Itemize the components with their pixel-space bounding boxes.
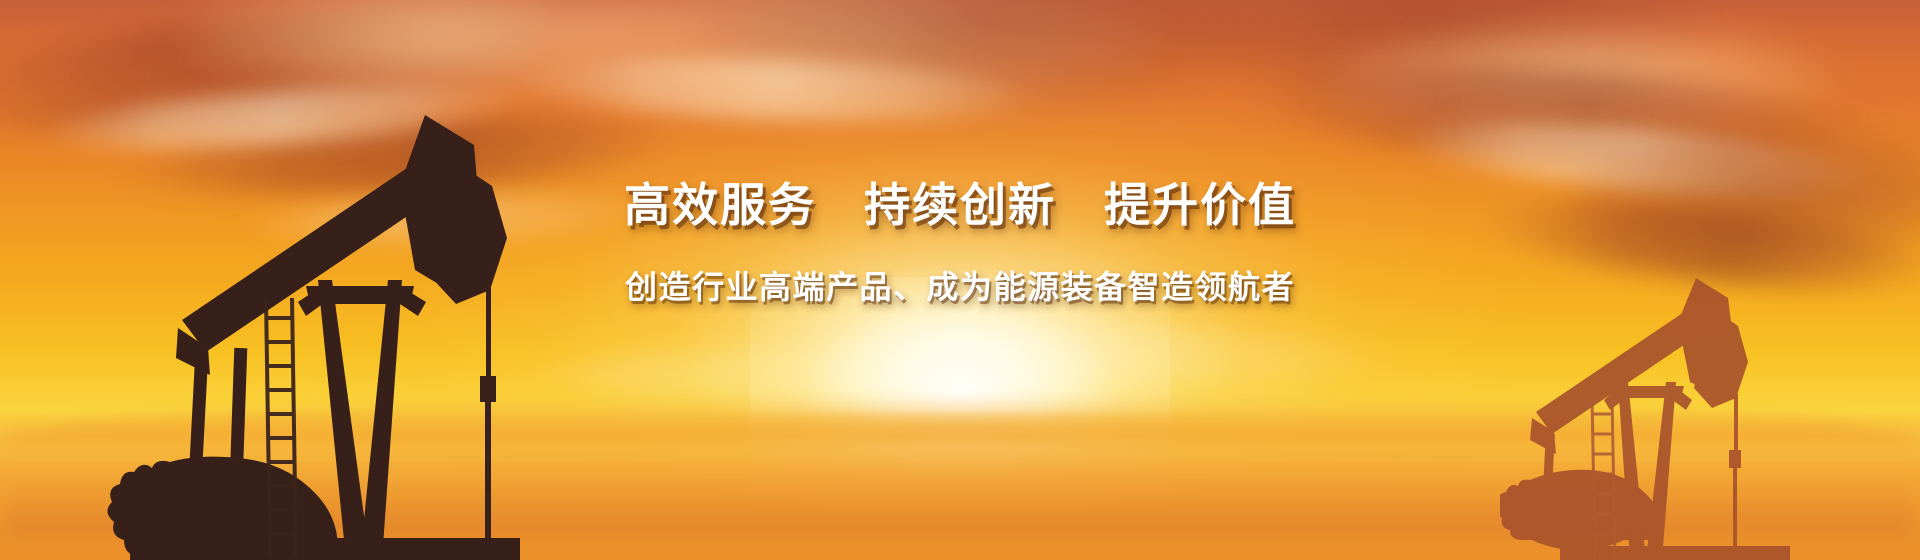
headline-phrase-1: 高效服务 (624, 176, 816, 236)
headline-phrase-2: 持续创新 (864, 176, 1056, 236)
distance-haze (0, 468, 1920, 538)
banner-copy: 高效服务 持续创新 提升价值 创造行业高端产品、成为能源装备智造领航者 (0, 176, 1920, 308)
hero-banner: 高效服务 持续创新 提升价值 创造行业高端产品、成为能源装备智造领航者 (0, 0, 1920, 560)
headline-phrase-3: 提升价值 (1104, 176, 1296, 236)
banner-subtitle: 创造行业高端产品、成为能源装备智造领航者 (0, 262, 1920, 308)
banner-headline: 高效服务 持续创新 提升价值 (0, 176, 1920, 236)
